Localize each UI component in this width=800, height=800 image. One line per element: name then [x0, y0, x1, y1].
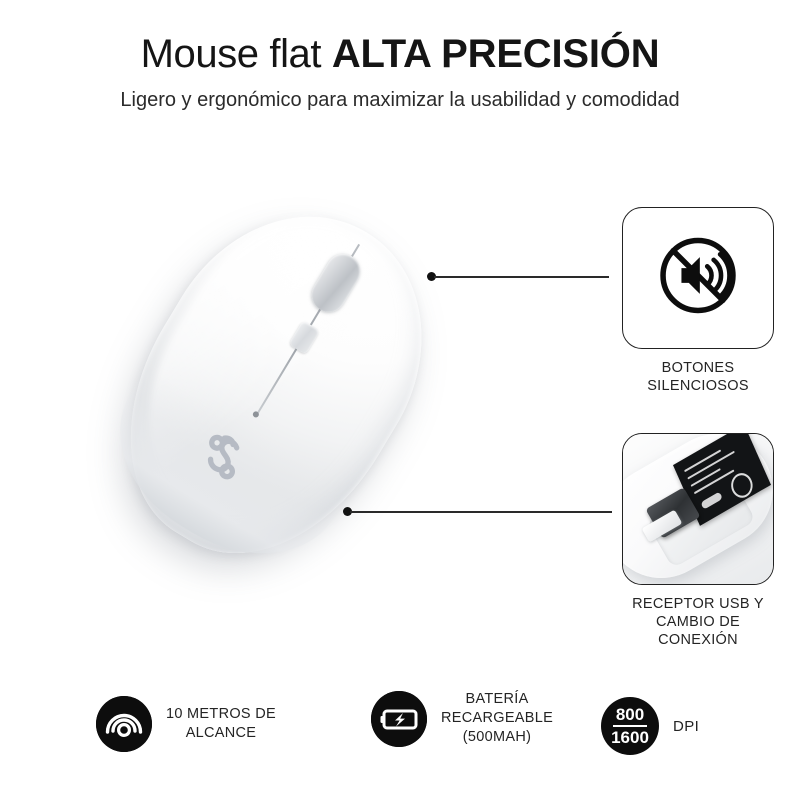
dpi-label: DPI: [673, 718, 699, 735]
connector-line: [350, 511, 612, 513]
mouse-illustration: [76, 168, 473, 601]
page-title-strong: ALTA PRECISIÓN: [332, 32, 660, 76]
dpi-value-low: 800: [616, 705, 644, 724]
product-image: [100, 185, 500, 585]
caption-line: BOTONES: [608, 359, 788, 377]
callout-usb-receiver-caption: RECEPTOR USB Y CAMBIO DE CONEXIÓN: [608, 595, 788, 649]
feature-line: (500MAH): [441, 728, 553, 747]
feature-line: ALCANCE: [166, 724, 276, 743]
page-title-regular: Mouse flat: [141, 32, 332, 76]
feature-range: 10 METROS DE ALCANCE: [96, 696, 276, 752]
dpi-divider: [613, 725, 647, 728]
caption-line: RECEPTOR USB Y: [608, 595, 788, 613]
caption-line: CAMBIO DE: [608, 613, 788, 631]
feature-line: RECARGEABLE: [441, 709, 553, 728]
feature-battery: BATERÍA RECARGEABLE (500MAH): [371, 690, 553, 747]
feature-dpi: 800 1600 DPI: [601, 697, 699, 755]
connector-line: [434, 276, 609, 278]
feature-range-text: 10 METROS DE ALCANCE: [166, 705, 276, 743]
feature-strip: 10 METROS DE ALCANCE BATERÍA RECARGEABLE…: [0, 686, 800, 776]
muted-speaker-icon: [652, 230, 744, 327]
rechargeable-battery-icon: [371, 691, 427, 747]
usb-receiver-photo: [623, 434, 773, 584]
feature-line: BATERÍA: [441, 690, 553, 709]
feature-line: 10 METROS DE: [166, 705, 276, 724]
caption-line: CONEXIÓN: [608, 631, 788, 649]
callout-usb-receiver-box: [622, 433, 774, 585]
callout-usb-receiver[interactable]: RECEPTOR USB Y CAMBIO DE CONEXIÓN: [608, 433, 788, 649]
page-title: Mouse flat ALTA PRECISIÓN: [0, 28, 800, 80]
caption-line: SILENCIOSOS: [608, 377, 788, 395]
page-subtitle: Ligero y ergonómico para maximizar la us…: [0, 86, 800, 114]
dpi-value-high: 1600: [611, 728, 649, 747]
callout-silent-buttons[interactable]: BOTONES SILENCIOSOS: [608, 207, 788, 395]
feature-battery-text: BATERÍA RECARGEABLE (500MAH): [441, 690, 553, 747]
header: Mouse flat ALTA PRECISIÓN Ligero y ergon…: [0, 28, 800, 114]
callout-silent-buttons-caption: BOTONES SILENCIOSOS: [608, 359, 788, 395]
dpi-badge: 800 1600: [601, 697, 659, 755]
wireless-signal-icon: [96, 696, 152, 752]
callout-silent-buttons-box: [622, 207, 774, 349]
